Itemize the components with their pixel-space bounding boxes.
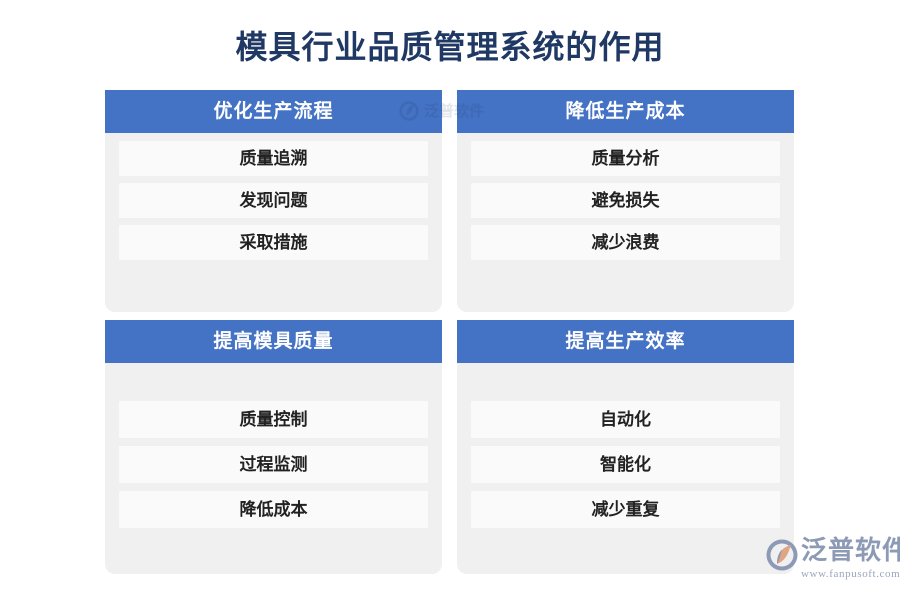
card-item[interactable]: 智能化 — [471, 446, 780, 483]
logo-words: 泛普软件 www.fanpusoft.com — [801, 536, 900, 582]
card-body: 质量控制 过程监测 降低成本 — [105, 363, 442, 574]
card-item[interactable]: 质量控制 — [119, 401, 428, 438]
card-item[interactable]: 质量分析 — [471, 141, 780, 176]
page-title: 模具行业品质管理系统的作用 — [0, 26, 900, 68]
card-header: 提高生产效率 — [457, 320, 794, 363]
logo-url: www.fanpusoft.com — [801, 568, 900, 580]
card-item[interactable]: 过程监测 — [119, 446, 428, 483]
logo-brand-name: 泛普软件 — [801, 535, 900, 565]
card-body: 自动化 智能化 减少重复 — [457, 363, 794, 574]
infographic-page: 模具行业品质管理系统的作用 优化生产流程 质量追溯 发现问题 采取措施 降低生产… — [0, 0, 900, 600]
card-improve-production-efficiency[interactable]: 提高生产效率 自动化 智能化 减少重复 — [457, 320, 794, 574]
card-item[interactable]: 自动化 — [471, 401, 780, 438]
card-item[interactable]: 避免损失 — [471, 183, 780, 218]
card-item[interactable]: 减少重复 — [471, 491, 780, 528]
card-item[interactable]: 质量追溯 — [119, 141, 428, 176]
card-header: 优化生产流程 — [105, 90, 442, 133]
card-item[interactable]: 降低成本 — [119, 491, 428, 528]
card-body: 质量追溯 发现问题 采取措施 — [105, 133, 442, 312]
card-item[interactable]: 发现问题 — [119, 183, 428, 218]
card-improve-mold-quality[interactable]: 提高模具质量 质量控制 过程监测 降低成本 — [105, 320, 442, 574]
card-item[interactable]: 减少浪费 — [471, 225, 780, 260]
card-header: 降低生产成本 — [457, 90, 794, 133]
card-grid: 优化生产流程 质量追溯 发现问题 采取措施 降低生产成本 质量分析 避免损失 减… — [105, 90, 794, 574]
card-item[interactable]: 采取措施 — [119, 225, 428, 260]
card-optimize-production-process[interactable]: 优化生产流程 质量追溯 发现问题 采取措施 — [105, 90, 442, 312]
card-reduce-production-cost[interactable]: 降低生产成本 质量分析 避免损失 减少浪费 — [457, 90, 794, 312]
card-header: 提高模具质量 — [105, 320, 442, 363]
card-body: 质量分析 避免损失 减少浪费 — [457, 133, 794, 312]
